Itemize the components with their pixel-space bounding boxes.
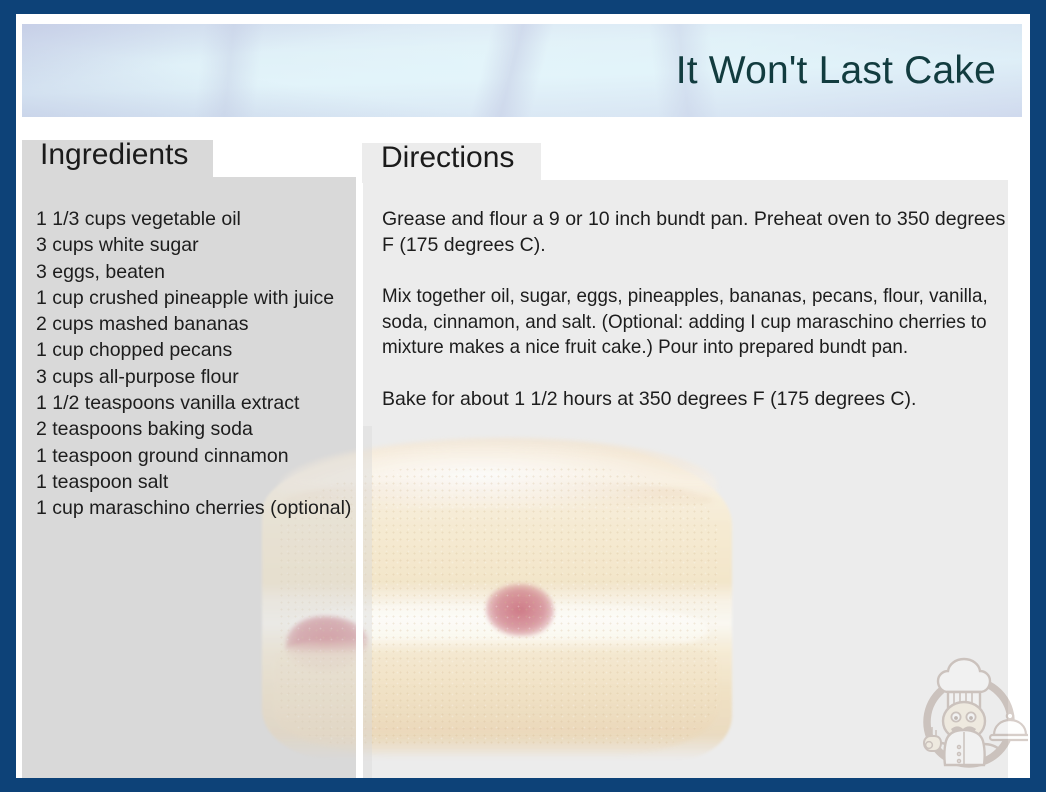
ingredient-item: 3 cups all-purpose flour [36, 364, 354, 390]
tab-directions-label: Directions [381, 141, 514, 175]
recipe-card: It Won't Last Cake Ingredients [0, 0, 1046, 792]
tab-ingredients-label: Ingredients [40, 138, 188, 172]
ingredient-item: 2 cups mashed bananas [36, 311, 354, 337]
directions-text: Grease and flour a 9 or 10 inch bundt pa… [382, 207, 1012, 438]
ingredient-item: 1 cup chopped pecans [36, 337, 354, 363]
column-divider [356, 177, 363, 778]
ingredient-item: 1 teaspoon salt [36, 469, 354, 495]
title-banner: It Won't Last Cake [22, 24, 1022, 117]
direction-paragraph: Grease and flour a 9 or 10 inch bundt pa… [382, 207, 1012, 258]
tab-directions[interactable]: Directions [362, 143, 541, 183]
tab-ingredients[interactable]: Ingredients [22, 140, 213, 180]
ingredient-item: 3 cups white sugar [36, 232, 354, 258]
ingredient-item: 3 eggs, beaten [36, 259, 354, 285]
ingredient-item: 1 cup maraschino cherries (optional) [36, 495, 354, 521]
page-title: It Won't Last Cake [676, 49, 996, 93]
ingredient-item: 1 1/3 cups vegetable oil [36, 206, 354, 232]
direction-paragraph: Mix together oil, sugar, eggs, pineapple… [382, 284, 990, 361]
ingredient-item: 2 teaspoons baking soda [36, 416, 354, 442]
direction-paragraph: Bake for about 1 1/2 hours at 350 degree… [382, 387, 1012, 413]
ingredient-item: 1 teaspoon ground cinnamon [36, 443, 354, 469]
ingredients-list: 1 1/3 cups vegetable oil3 cups white sug… [36, 206, 354, 522]
recipe-card-inner: It Won't Last Cake Ingredients [16, 14, 1030, 778]
ingredient-item: 1 cup crushed pineapple with juice [36, 285, 354, 311]
ingredient-item: 1 1/2 teaspoons vanilla extract [36, 390, 354, 416]
